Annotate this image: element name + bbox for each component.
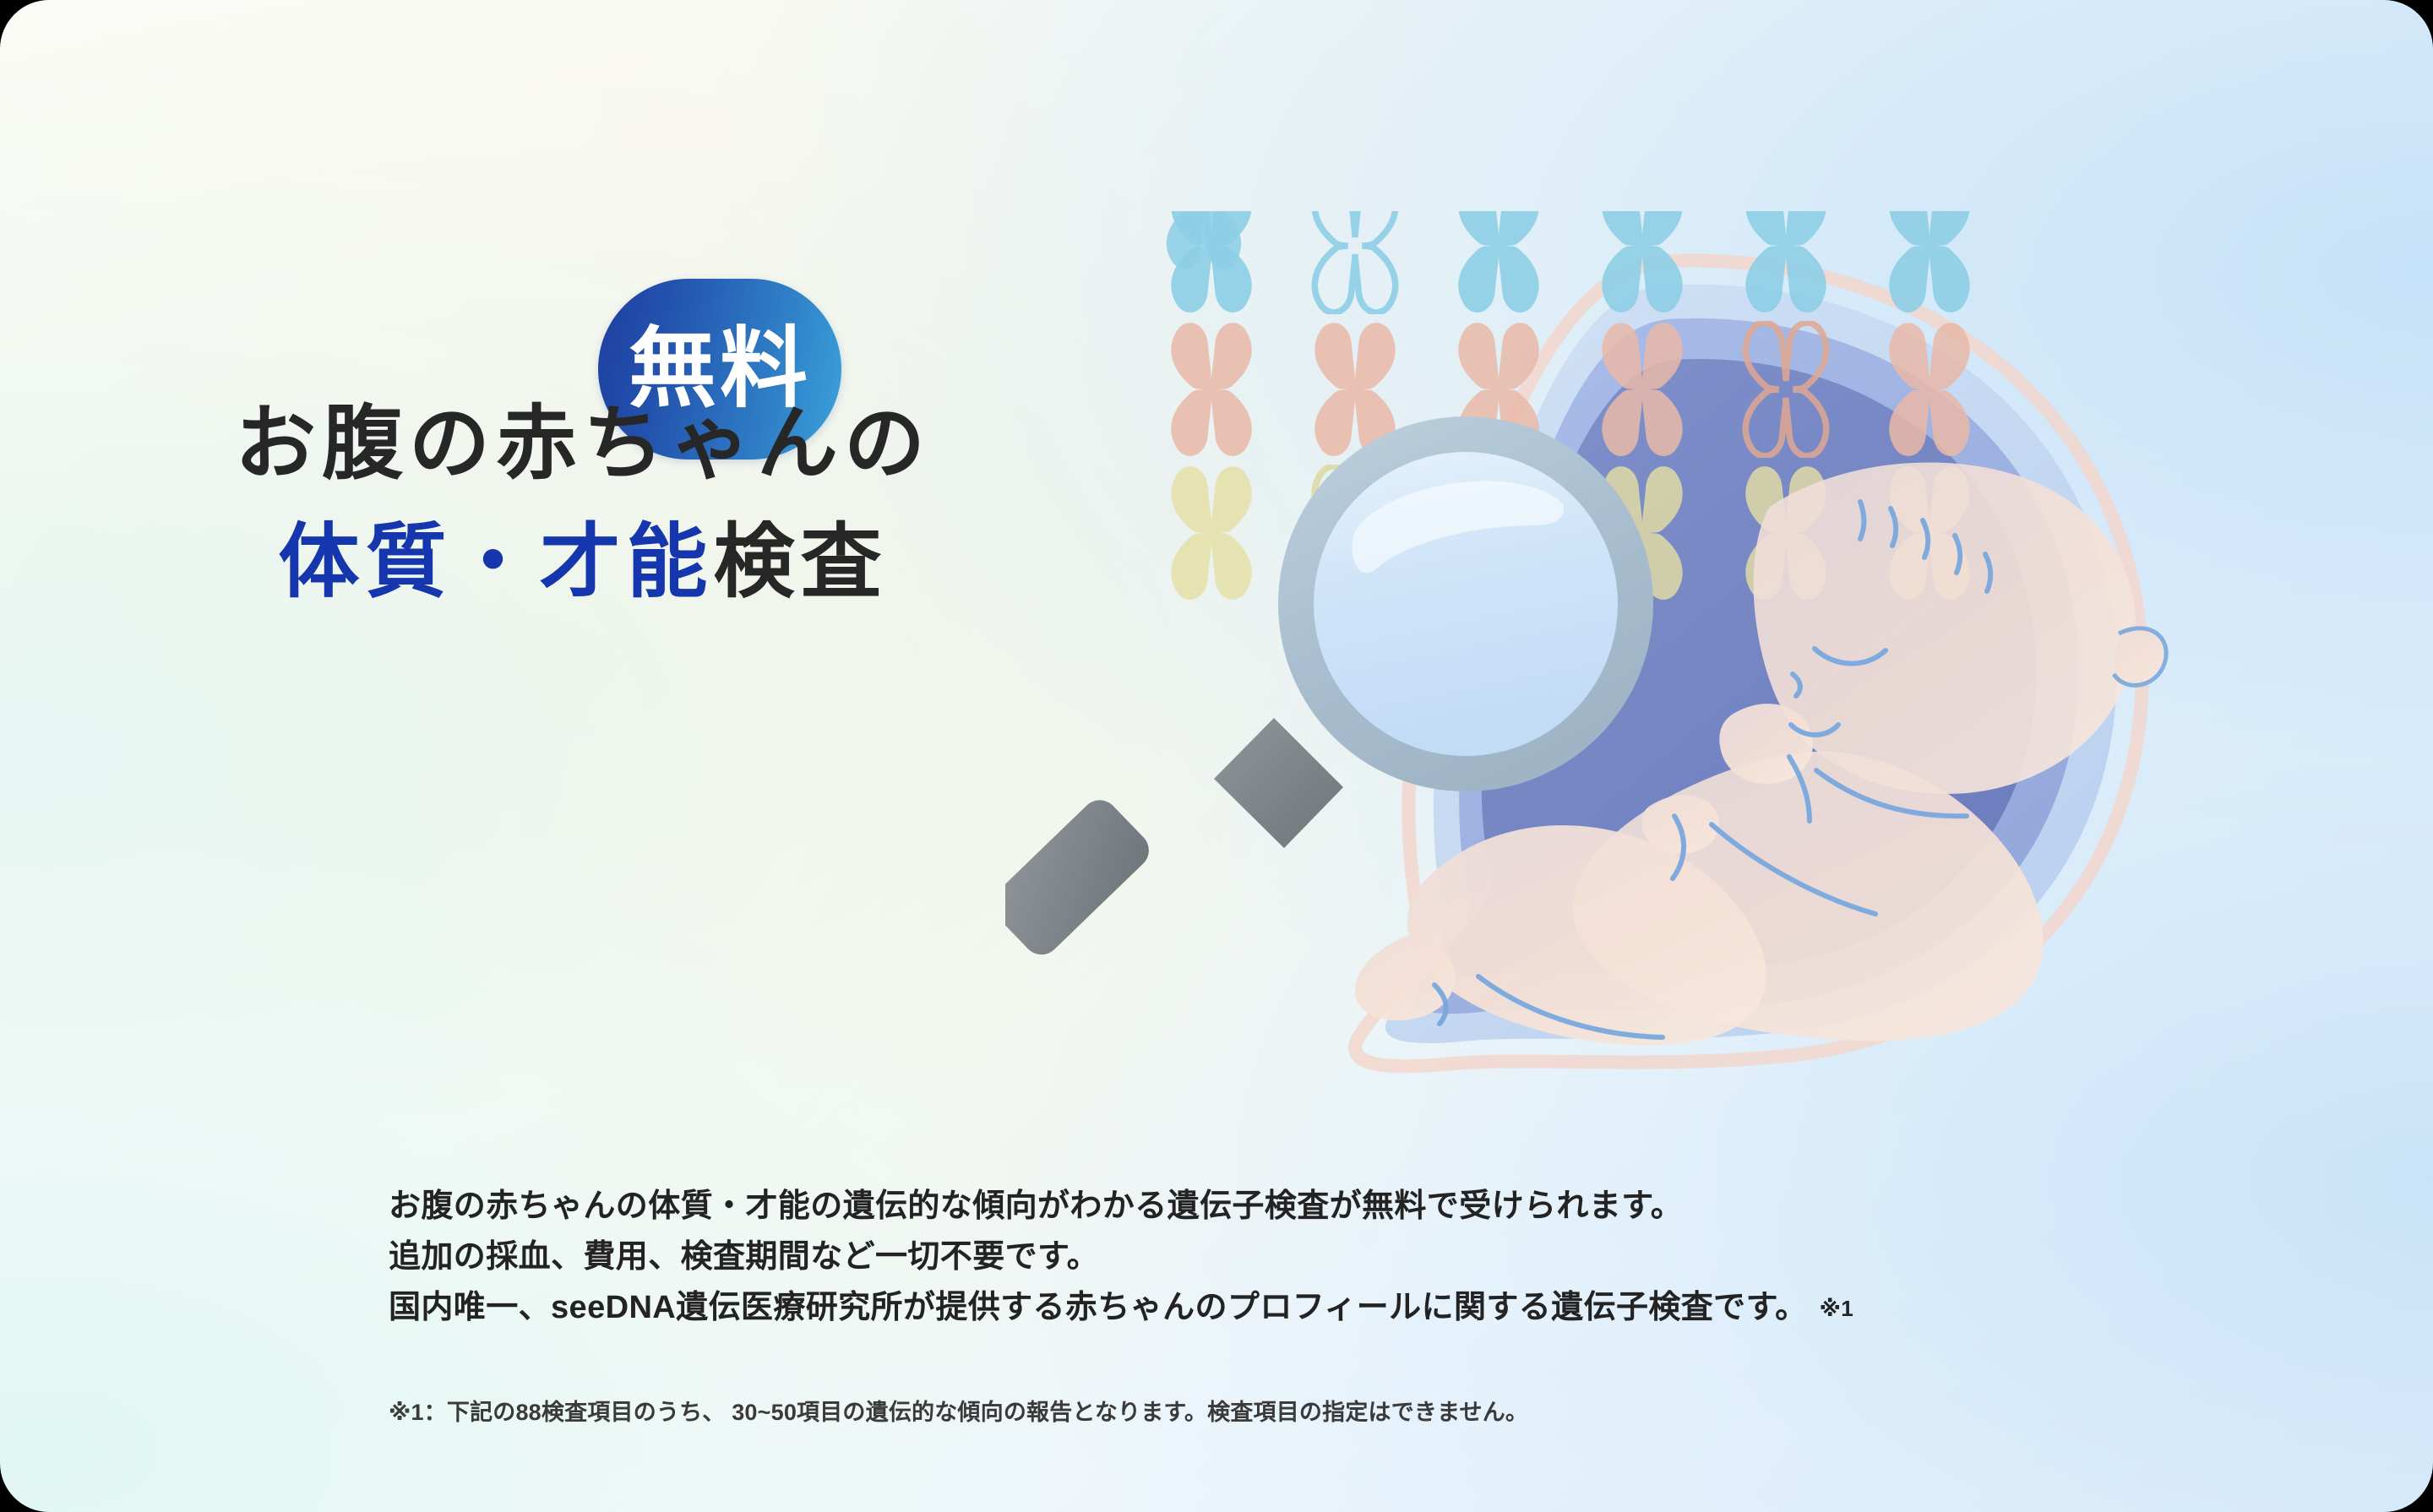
body-line-2: 追加の採血、費用、検査期間など一切不要です。	[389, 1232, 2163, 1282]
page-title-highlight: 体質・才能	[279, 517, 714, 607]
promo-card: 無料 お腹の赤ちゃんの 体質・才能検査	[0, 0, 2433, 1512]
body-line-3: 国内唯一、seeDNA遺伝医療研究所が提供する赤ちゃんのプロフィールに関する遺伝…	[389, 1282, 2163, 1333]
body-line-3-text: 国内唯一、seeDNA遺伝医療研究所が提供する赤ちゃんのプロフィールに関する遺伝…	[389, 1290, 1808, 1325]
body-copy: お腹の赤ちゃんの体質・才能の遺伝的な傾向がわかる遺伝子検査が無料で受けられます。…	[389, 1181, 2163, 1333]
fetus-chromosome-illustration	[1005, 211, 2205, 1132]
body-line-1: お腹の赤ちゃんの体質・才能の遺伝的な傾向がわかる遺伝子検査が無料で受けられます。	[389, 1181, 2163, 1232]
page-title-line-1-text: お腹の赤ちゃんの	[235, 399, 931, 489]
page-title-line-1: お腹の赤ちゃんの	[0, 404, 1166, 485]
footnote-marker: ※1	[1820, 1296, 1854, 1321]
page-title-line-2: 体質・才能検査	[0, 522, 1166, 603]
page-title-line-2-suffix: 検査	[714, 517, 888, 607]
footnote-text: ※1：下記の88検査項目のうち、 30~50項目の遺伝的な傾向の報告となります。…	[389, 1394, 2163, 1427]
